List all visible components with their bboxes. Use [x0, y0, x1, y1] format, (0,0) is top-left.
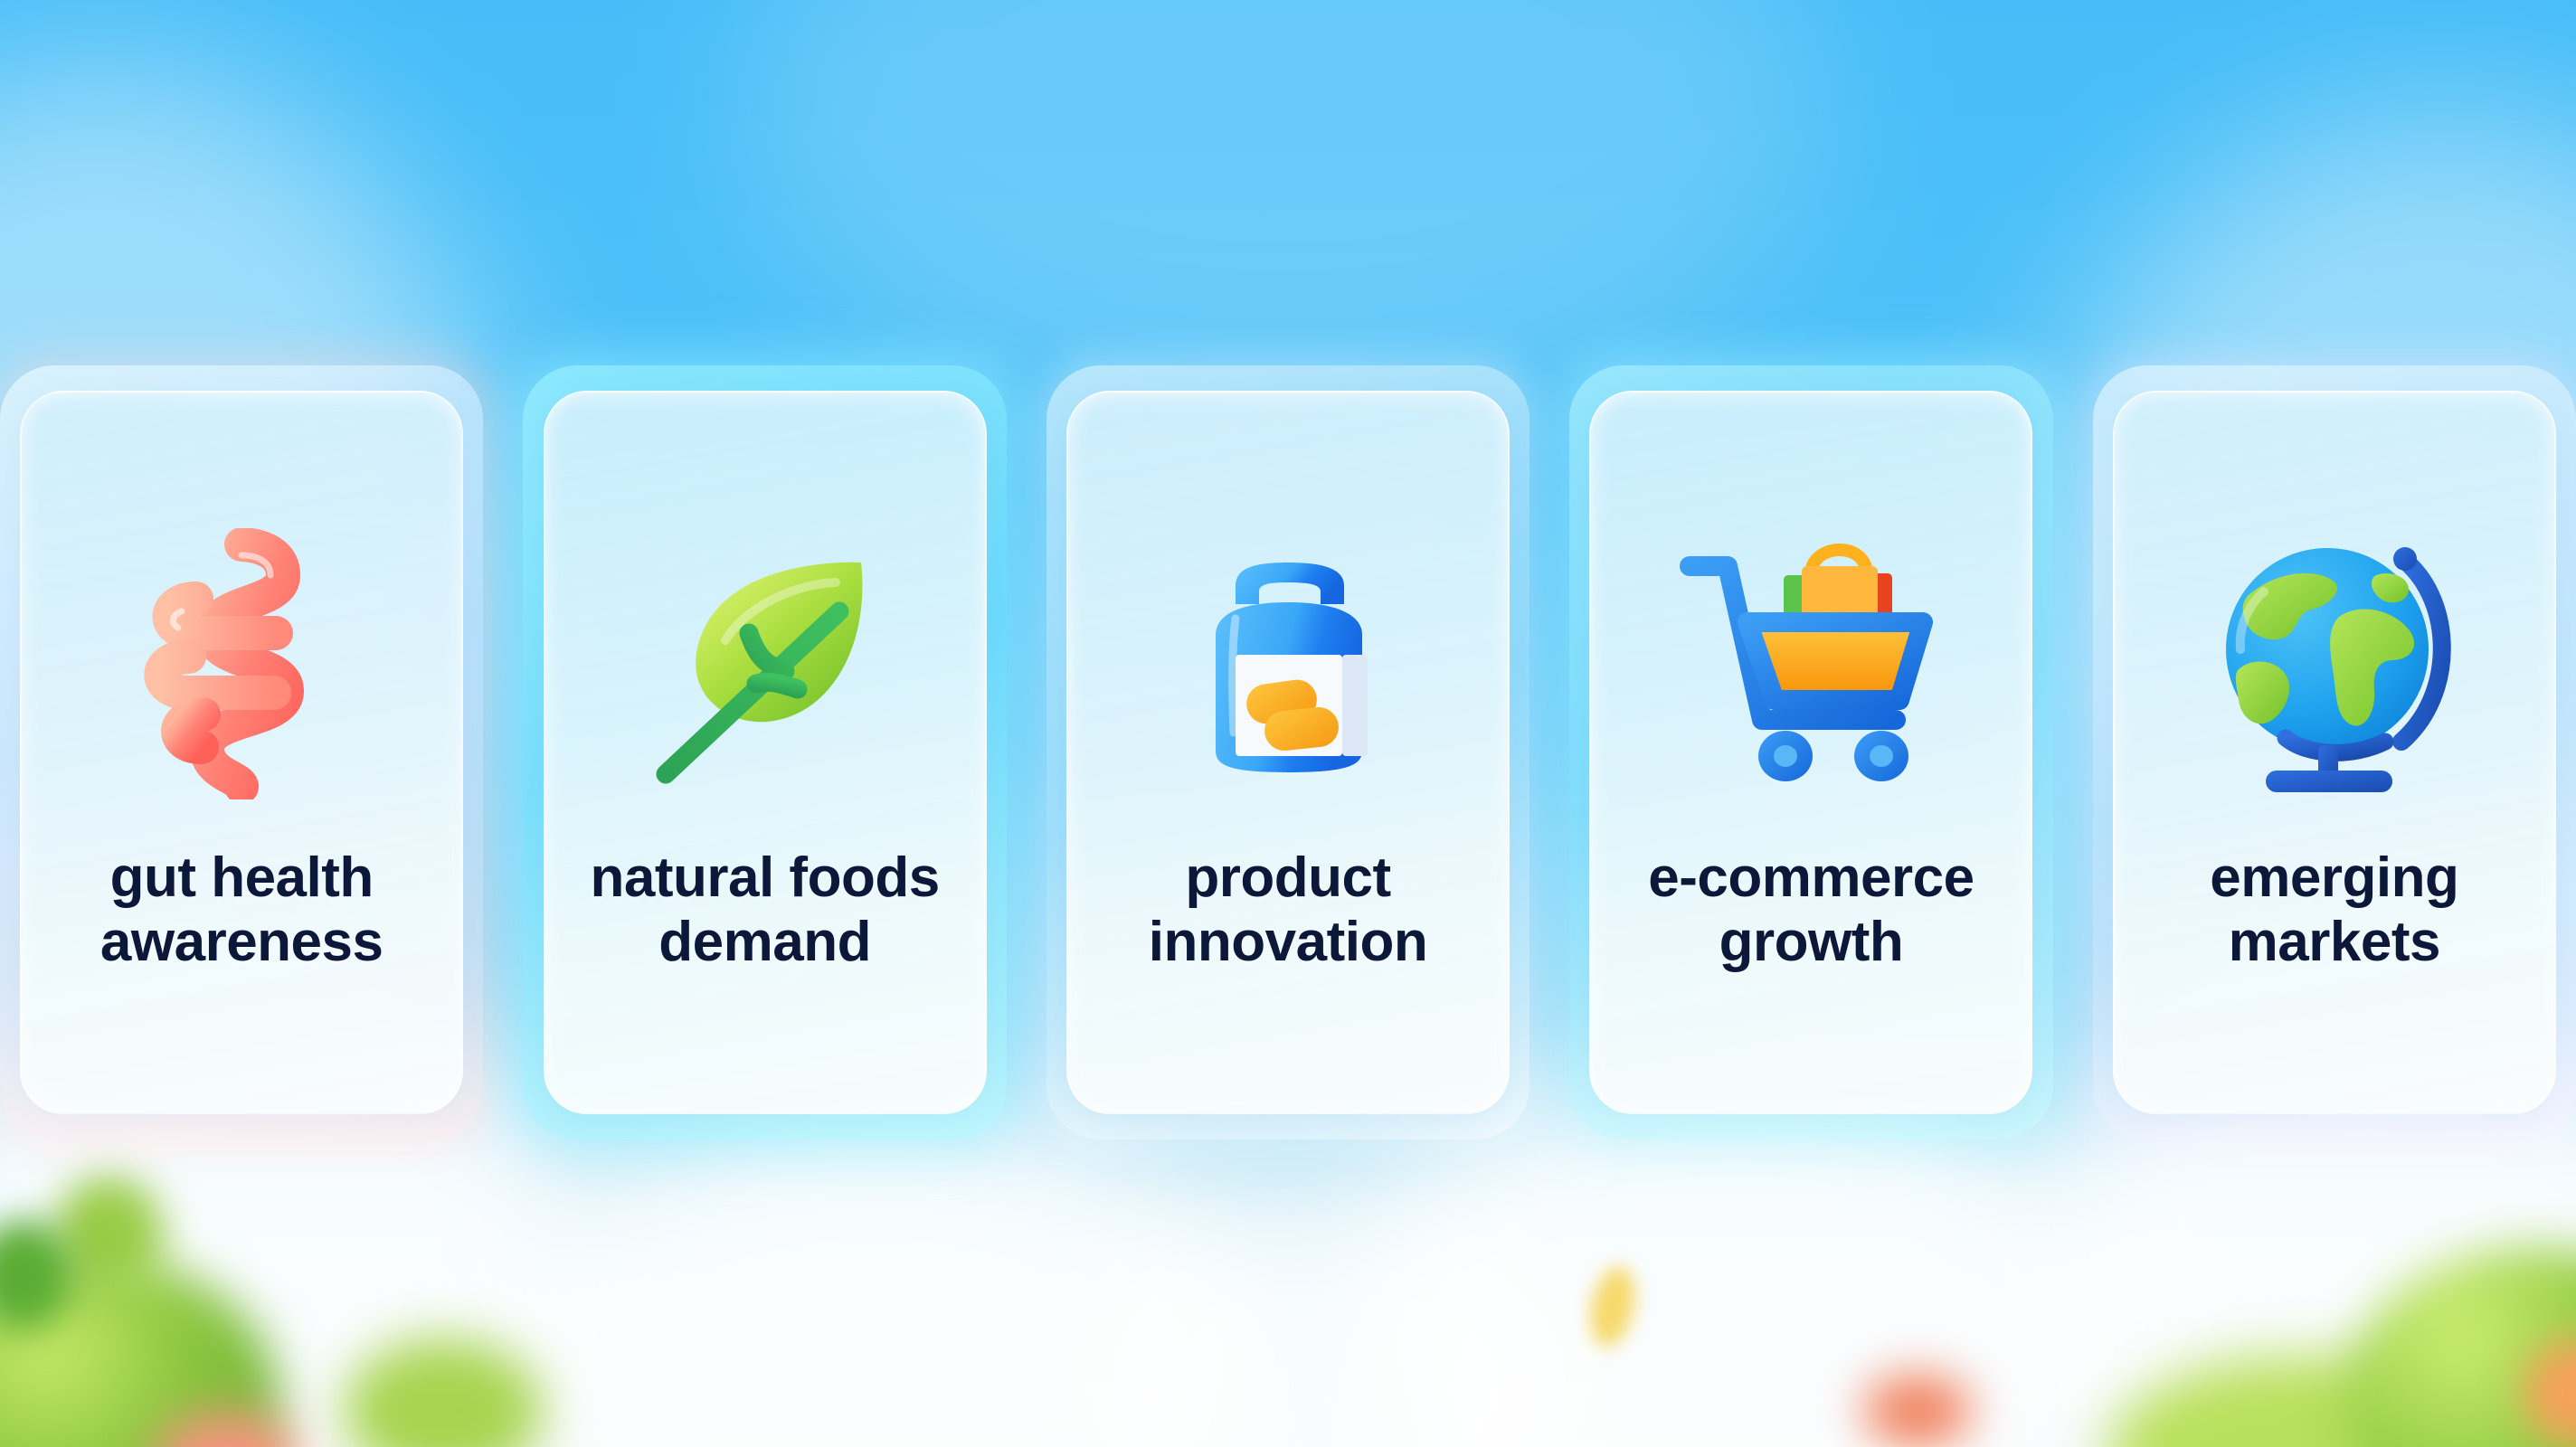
- globe-stand-icon: [2199, 528, 2470, 799]
- card-gut-health-awareness[interactable]: gut health awareness: [20, 391, 463, 1114]
- leaf-icon: [630, 528, 901, 799]
- card-frame-gut-health-awareness[interactable]: gut health awareness: [0, 365, 483, 1140]
- card-label: e-commerce growth: [1616, 846, 2005, 974]
- card-frame-product-innovation[interactable]: product innovation: [1046, 365, 1529, 1140]
- card-row: gut health awareness: [0, 0, 2576, 1447]
- card-label: product innovation: [1094, 846, 1482, 974]
- intestine-icon: [106, 528, 377, 799]
- card-natural-foods-demand[interactable]: natural foods demand: [544, 391, 987, 1114]
- card-frame-e-commerce-growth[interactable]: e-commerce growth: [1569, 365, 2052, 1140]
- card-label: natural foods demand: [571, 846, 960, 974]
- card-product-innovation[interactable]: product innovation: [1066, 391, 1510, 1114]
- card-label: gut health awareness: [47, 846, 436, 974]
- card-frame-emerging-markets[interactable]: emerging markets: [2093, 365, 2576, 1140]
- infographic-canvas: gut health awareness: [0, 0, 2576, 1447]
- card-emerging-markets[interactable]: emerging markets: [2113, 391, 2556, 1114]
- supplement-carton-icon: [1152, 528, 1424, 799]
- shopping-cart-icon: [1675, 528, 1946, 799]
- card-e-commerce-growth[interactable]: e-commerce growth: [1589, 391, 2032, 1114]
- card-frame-natural-foods-demand[interactable]: natural foods demand: [523, 365, 1006, 1140]
- card-label: emerging markets: [2140, 846, 2529, 974]
